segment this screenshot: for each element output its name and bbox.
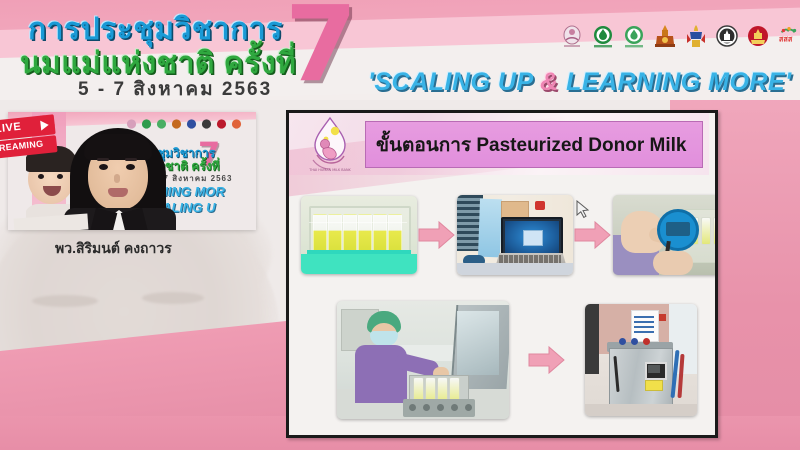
watermark-eye-left xyxy=(32,295,98,307)
inset-logo-5 xyxy=(186,118,197,130)
royal-garuda-emblem-logo xyxy=(684,24,708,50)
child-eye-left xyxy=(38,174,44,179)
watermark-eye-right xyxy=(142,292,204,304)
inset-logo-8 xyxy=(231,118,242,130)
speaker-mouth xyxy=(108,188,128,197)
thai-breastfeeding-foundation-logo xyxy=(560,24,584,50)
royal-college-emblem-logo xyxy=(653,24,677,50)
presentation-slide: THAI HUMAN MILK BANK ขั้นตอนการ Pasteuri… xyxy=(286,110,718,438)
speaker-brow-left xyxy=(97,158,109,161)
child-eye-right xyxy=(57,174,63,179)
banner-tagline: 'SCALING UP & LEARNING MORE' xyxy=(368,68,792,97)
tagline-part2: LEARNING MORE' xyxy=(559,68,792,96)
photo-digital-thermometer-check xyxy=(613,195,718,275)
photo-milk-bottles-in-rack xyxy=(301,196,417,274)
photo-nurse-loading-bottles xyxy=(337,301,509,419)
sponsor-logo-row: สสส xyxy=(560,24,800,50)
tagline-part1: 'SCALING UP xyxy=(368,68,540,96)
thai-human-milk-bank-logo: THAI HUMAN MILK BANK xyxy=(299,115,361,173)
process-row-top xyxy=(301,187,705,283)
mouse-cursor xyxy=(576,200,590,220)
slide-header: THAI HUMAN MILK BANK ขั้นตอนการ Pasteuri… xyxy=(289,113,709,175)
speaker-eye-right xyxy=(126,164,135,170)
process-arrow-3 xyxy=(527,344,567,376)
svg-text:สสส: สสส xyxy=(779,35,793,44)
thaihealth-sss-logo: สสส xyxy=(777,24,800,50)
conference-banner: 7 การประชุมวิชาการ นมแม่แห่งชาติ ครั้งที… xyxy=(0,0,800,100)
banner-date: 5 - 7 สิงหาคม 2563 xyxy=(78,74,272,100)
inset-logo-4 xyxy=(171,118,182,130)
inset-logo-6 xyxy=(201,118,212,130)
nursing-council-emblem-logo xyxy=(715,24,739,50)
department-health-green-logo xyxy=(622,24,646,50)
slide-title: ขั้นตอนการ Pasteurized Donor Milk xyxy=(366,130,686,160)
speaker-nose xyxy=(114,174,120,183)
process-arrow-1 xyxy=(417,219,457,251)
speaker-eye-left xyxy=(99,164,108,170)
live-streaming-badge: LIVE STREAMING xyxy=(0,114,58,164)
process-arrow-2 xyxy=(573,219,613,251)
photo-pasteurizer-machine xyxy=(585,304,697,416)
speaker-bangs xyxy=(84,134,152,160)
screenshot-stage: 7 การประชุมวิชาการ นมแม่แห่งชาติ ครั้งที… xyxy=(0,0,800,450)
tagline-ampersand: & xyxy=(540,68,559,96)
speaker-name-caption: พว.สิริมนต์ คงถาวร xyxy=(55,238,172,260)
ministry-public-health-green-logo xyxy=(591,24,615,50)
photo-laptop-data-recording xyxy=(457,195,573,275)
inset-logo-7 xyxy=(216,118,227,130)
speaker-brow-right xyxy=(125,158,137,161)
red-seal-emblem-logo xyxy=(746,24,770,50)
svg-text:THAI HUMAN MILK BANK: THAI HUMAN MILK BANK xyxy=(308,168,351,172)
slide-title-banner: ขั้นตอนการ Pasteurized Donor Milk xyxy=(365,121,703,168)
process-row-bottom xyxy=(337,299,705,421)
